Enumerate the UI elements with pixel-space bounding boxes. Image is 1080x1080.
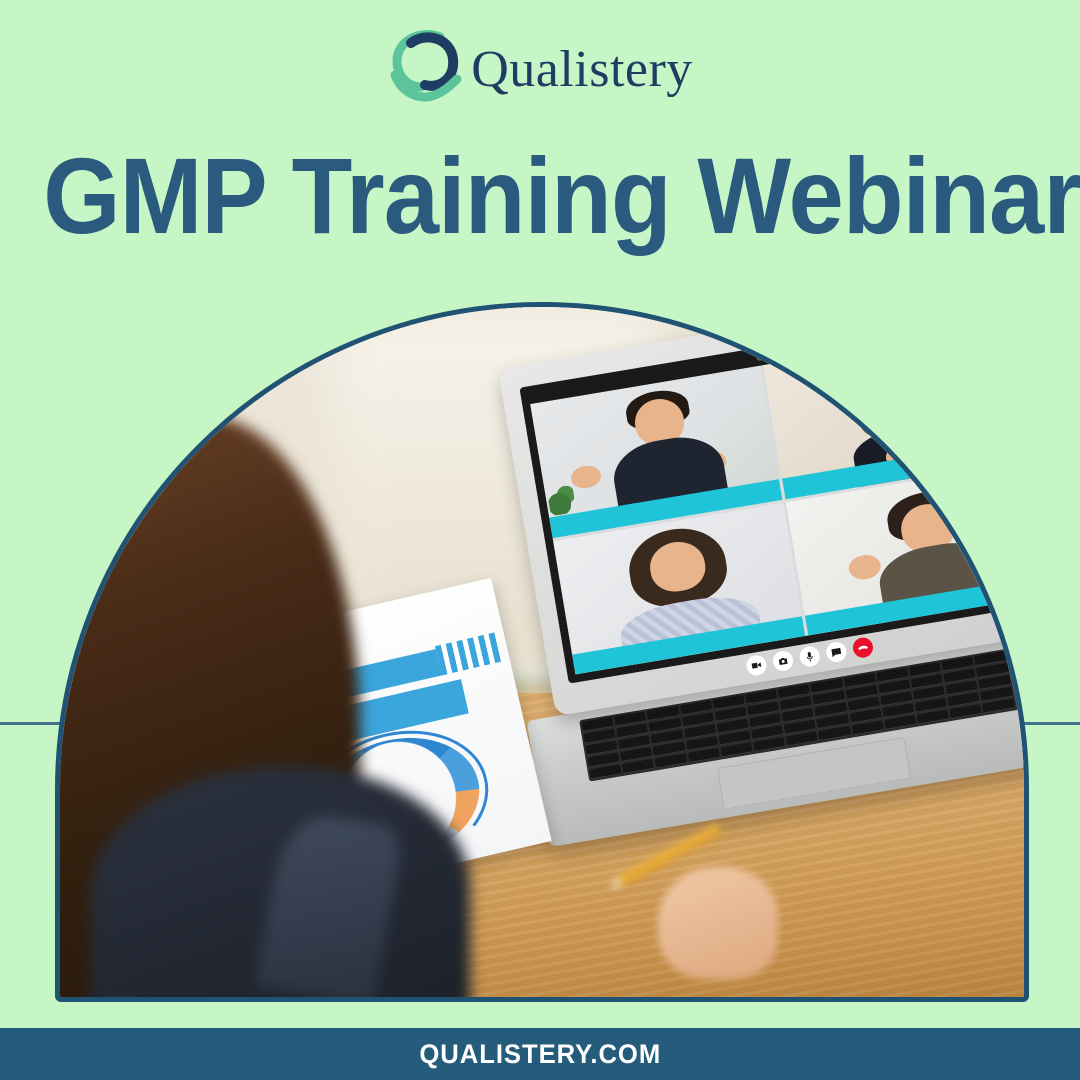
footer-bar: QUALISTERY.COM xyxy=(0,1028,1080,1080)
laptop xyxy=(498,302,1029,842)
brand-wordmark: Qualistery xyxy=(471,44,693,96)
microphone-icon[interactable] xyxy=(798,645,821,668)
screen-bezel xyxy=(519,308,1029,684)
hand-holding-pencil xyxy=(620,843,790,983)
chat-bubble-icon[interactable] xyxy=(825,641,848,664)
page-title: GMP Training Webinars xyxy=(43,142,1037,250)
qualistery-q-swoosh-logo xyxy=(387,27,465,113)
plant-decor xyxy=(545,478,576,516)
website-url[interactable]: QUALISTERY.COM xyxy=(419,1039,661,1070)
end-call-icon[interactable] xyxy=(851,636,874,659)
foreground-attendee xyxy=(55,377,450,1002)
webcam-icon xyxy=(756,354,763,361)
hand-palm xyxy=(658,867,778,979)
screen-share-camera-icon[interactable] xyxy=(772,649,795,672)
brand-header: Qualistery xyxy=(0,20,1080,120)
webinar-photo: hare xyxy=(60,307,1024,997)
video-camera-icon[interactable] xyxy=(745,654,768,677)
arch-photo-frame: hare xyxy=(55,302,1029,1002)
